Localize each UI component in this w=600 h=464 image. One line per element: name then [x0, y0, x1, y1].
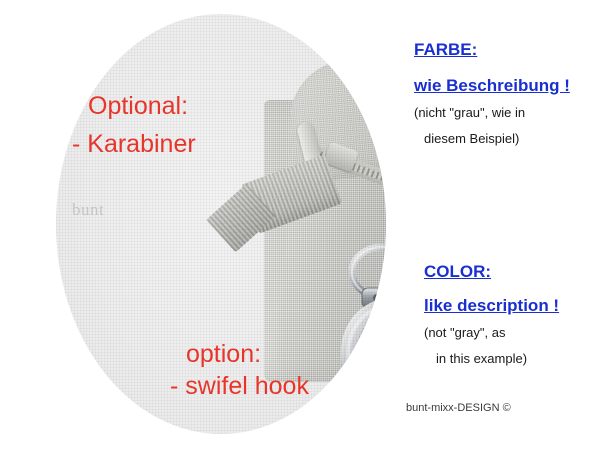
color-statement: like description !	[424, 296, 559, 316]
color-heading: COLOR:	[424, 262, 491, 282]
color-heading-text: COLOR:	[424, 262, 491, 281]
annotation-optional-de-line1: Optional:	[88, 92, 188, 121]
color-note-line1: (not "gray", as	[424, 325, 506, 340]
watermark-left-text: bunt	[72, 200, 104, 220]
color-note-line2: in this example)	[436, 351, 527, 366]
metal-hardware	[336, 244, 386, 429]
swivel-hook-icon	[336, 244, 386, 424]
color-statement-text: like description !	[424, 296, 559, 315]
annotation-optional-de-line2: - Karabiner	[72, 130, 196, 159]
farbe-note-line1: (nicht "grau", wie in	[414, 105, 525, 120]
farbe-statement-text: wie Beschreibung !	[414, 76, 570, 95]
image-canvas: bunt ©	[0, 0, 600, 464]
product-photo-disc: bunt ©	[56, 14, 386, 434]
farbe-statement: wie Beschreibung !	[414, 76, 570, 96]
farbe-heading-text: FARBE:	[414, 40, 477, 59]
pouch-product	[240, 46, 386, 382]
annotation-optional-en-line1: option:	[186, 340, 261, 369]
farbe-heading: FARBE:	[414, 40, 477, 60]
annotation-optional-en-line2: - swifel hook	[170, 372, 309, 401]
farbe-note-line2: diesem Beispiel)	[424, 131, 519, 146]
brand-credit: bunt-mixx-DESIGN ©	[406, 402, 511, 414]
